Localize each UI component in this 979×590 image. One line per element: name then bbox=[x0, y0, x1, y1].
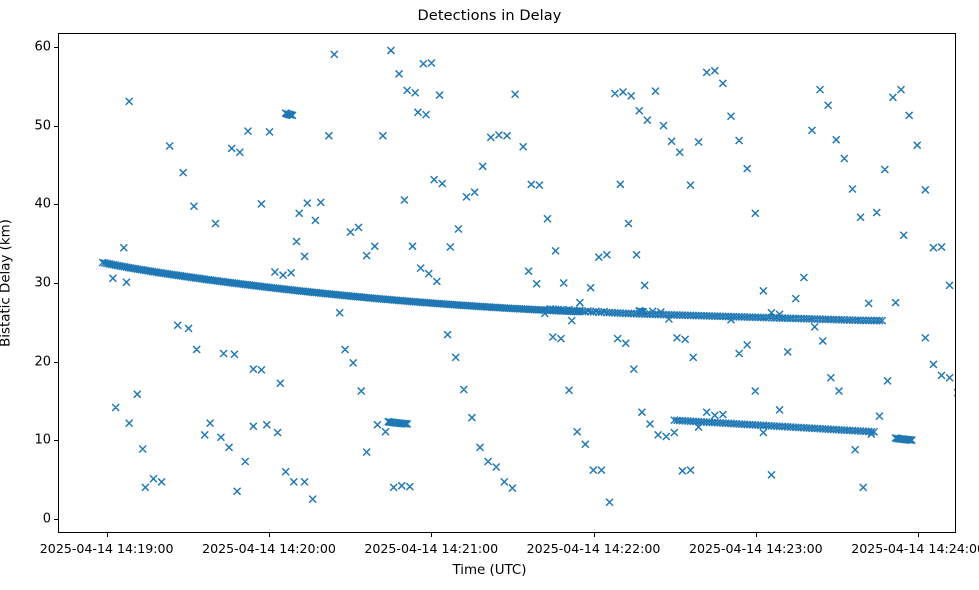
x-tick-mark bbox=[107, 533, 108, 537]
x-tick-mark bbox=[756, 533, 757, 537]
y-tick-label: 40 bbox=[34, 197, 51, 212]
scatter-markers bbox=[59, 34, 955, 532]
x-tick-label: 2025-04-14 14:20:00 bbox=[202, 541, 336, 556]
plot-area bbox=[58, 33, 956, 533]
x-tick-mark bbox=[918, 533, 919, 537]
y-tick-label: 30 bbox=[34, 276, 51, 291]
x-tick-mark bbox=[594, 533, 595, 537]
y-tick-label: 60 bbox=[34, 40, 51, 55]
y-tick-label: 0 bbox=[43, 511, 51, 526]
x-tick-mark bbox=[269, 533, 270, 537]
x-tick-label: 2025-04-14 14:22:00 bbox=[527, 541, 661, 556]
chart-title: Detections in Delay bbox=[0, 8, 979, 24]
x-tick-label: 2025-04-14 14:19:00 bbox=[40, 541, 174, 556]
y-tick-label: 10 bbox=[34, 433, 51, 448]
y-tick-label: 20 bbox=[34, 354, 51, 369]
chart-figure: Detections in Delay 0102030405060 2025-0… bbox=[0, 0, 979, 590]
y-tick-label: 50 bbox=[34, 118, 51, 133]
x-tick-label: 2025-04-14 14:21:00 bbox=[364, 541, 498, 556]
x-axis-label: Time (UTC) bbox=[0, 563, 979, 578]
x-tick-label: 2025-04-14 14:24:00 bbox=[851, 541, 979, 556]
y-axis-label: Bistatic Delay (km) bbox=[0, 219, 14, 347]
x-tick-label: 2025-04-14 14:23:00 bbox=[689, 541, 823, 556]
x-tick-mark bbox=[431, 533, 432, 537]
